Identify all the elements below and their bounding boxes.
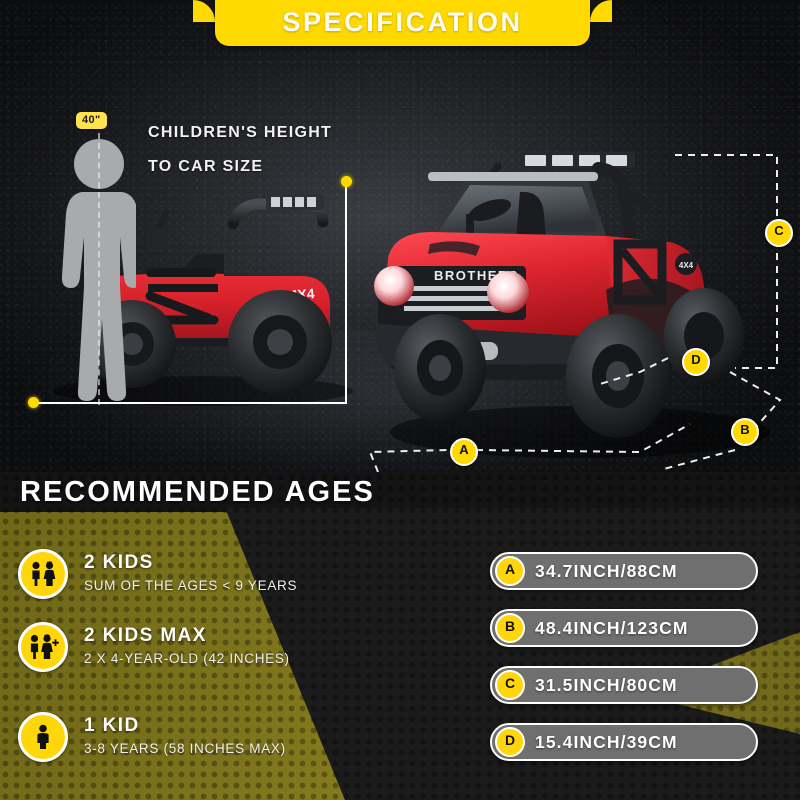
caption-line-1: CHILDREN'S HEIGHT bbox=[148, 116, 332, 150]
one-kid-icon bbox=[18, 712, 68, 762]
callout-marker-b: B bbox=[731, 418, 759, 446]
age-subline: 2 X 4-YEAR-OLD (42 INCHES) bbox=[84, 649, 290, 669]
height-center-dashed-line bbox=[98, 133, 100, 405]
dimension-value-d: 15.4INCH/39CM bbox=[535, 732, 678, 753]
caption-line-2: TO CAR SIZE bbox=[148, 150, 332, 184]
age-headline: 2 KIDS MAX bbox=[84, 625, 290, 647]
dimension-badge-c: C bbox=[495, 670, 525, 700]
ride-on-car-three-quarter-view: 4X4 BROTHERS bbox=[370, 140, 770, 470]
measure-endpoint-dot-top bbox=[341, 176, 352, 187]
dimension-value-c: 31.5INCH/80CM bbox=[535, 675, 678, 696]
callout-marker-c: C bbox=[765, 219, 793, 247]
dimension-badge-a: A bbox=[495, 556, 525, 586]
measure-endpoint-dot-left bbox=[28, 397, 39, 408]
age-row: 1 KID 3-8 YEARS (58 INCHES MAX) bbox=[18, 712, 286, 762]
dimension-pill-d: D 15.4INCH/39CM bbox=[490, 723, 758, 761]
two-kids-max-icon bbox=[18, 622, 68, 672]
svg-text:4X4: 4X4 bbox=[679, 261, 694, 270]
dimension-value-a: 34.7INCH/88CM bbox=[535, 561, 678, 582]
size-caption: CHILDREN'S HEIGHT TO CAR SIZE bbox=[148, 116, 332, 184]
dimension-pill-b: B 48.4INCH/123CM bbox=[490, 609, 758, 647]
callout-marker-a: A bbox=[450, 438, 478, 466]
callout-marker-d: D bbox=[682, 348, 710, 376]
age-text-block: 1 KID 3-8 YEARS (58 INCHES MAX) bbox=[84, 715, 286, 759]
age-subline: 3-8 YEARS (58 INCHES MAX) bbox=[84, 739, 286, 759]
page-title: SPECIFICATION bbox=[215, 0, 590, 44]
specification-infographic: 4X4 40" bbox=[0, 0, 800, 800]
age-row: 2 KIDS MAX 2 X 4-YEAR-OLD (42 INCHES) bbox=[18, 622, 290, 672]
dimension-badge-d: D bbox=[495, 727, 525, 757]
age-subline: SUM OF THE AGES < 9 YEARS bbox=[84, 576, 297, 596]
age-row: 2 KIDS SUM OF THE AGES < 9 YEARS bbox=[18, 549, 297, 599]
dimension-pill-c: C 31.5INCH/80CM bbox=[490, 666, 758, 704]
product-photo-area: 4X4 40" bbox=[0, 0, 800, 472]
two-kids-icon bbox=[18, 549, 68, 599]
age-headline: 1 KID bbox=[84, 715, 286, 737]
dimension-value-b: 48.4INCH/123CM bbox=[535, 618, 689, 639]
dimension-pill-a: A 34.7INCH/88CM bbox=[490, 552, 758, 590]
height-badge: 40" bbox=[76, 112, 107, 129]
dimension-badge-b: B bbox=[495, 613, 525, 643]
age-text-block: 2 KIDS MAX 2 X 4-YEAR-OLD (42 INCHES) bbox=[84, 625, 290, 669]
measure-line-right bbox=[345, 181, 347, 404]
section-title-recommended-ages: RECOMMENDED AGES bbox=[20, 476, 375, 509]
age-text-block: 2 KIDS SUM OF THE AGES < 9 YEARS bbox=[84, 552, 297, 596]
age-headline: 2 KIDS bbox=[84, 552, 297, 574]
measure-line-bottom bbox=[33, 402, 347, 404]
header-tab-notch-left bbox=[193, 0, 215, 22]
header-tab-notch-right bbox=[590, 0, 612, 22]
